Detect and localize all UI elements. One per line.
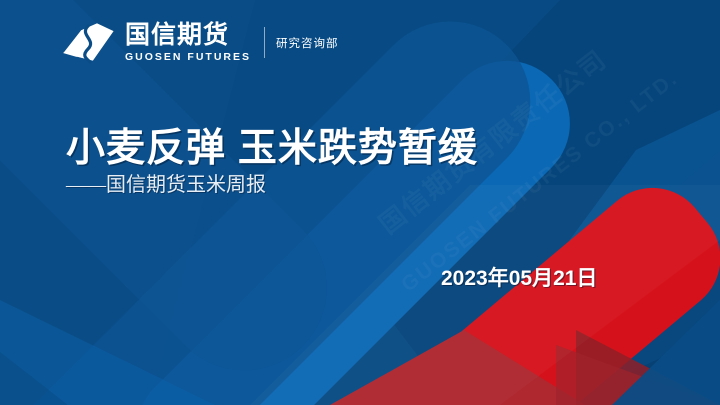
logo-english-name: GUOSEN FUTURES <box>125 51 251 64</box>
presentation-title-slide: 国信期货有限责任公司 GUOSEN FUTURES CO., LTD. 国信期货… <box>0 0 720 405</box>
logo-wordmark: 国信期货 GUOSEN FUTURES <box>125 20 251 64</box>
title-block: 小麦反弹 玉米跌势暂缓 ——国信期货玉米周报 <box>66 128 478 198</box>
logo-chinese-name: 国信期货 <box>125 22 251 49</box>
department-label: 研究咨询部 <box>276 33 339 51</box>
page-title: 小麦反弹 玉米跌势暂缓 <box>66 128 478 171</box>
brand-header: 国信期货 GUOSEN FUTURES 研究咨询部 <box>57 18 339 66</box>
page-subtitle: ——国信期货玉米周报 <box>66 173 478 198</box>
guosen-logo-icon <box>57 18 119 66</box>
report-date: 2023年05月21日 <box>441 262 597 292</box>
logo-divider <box>264 27 265 58</box>
